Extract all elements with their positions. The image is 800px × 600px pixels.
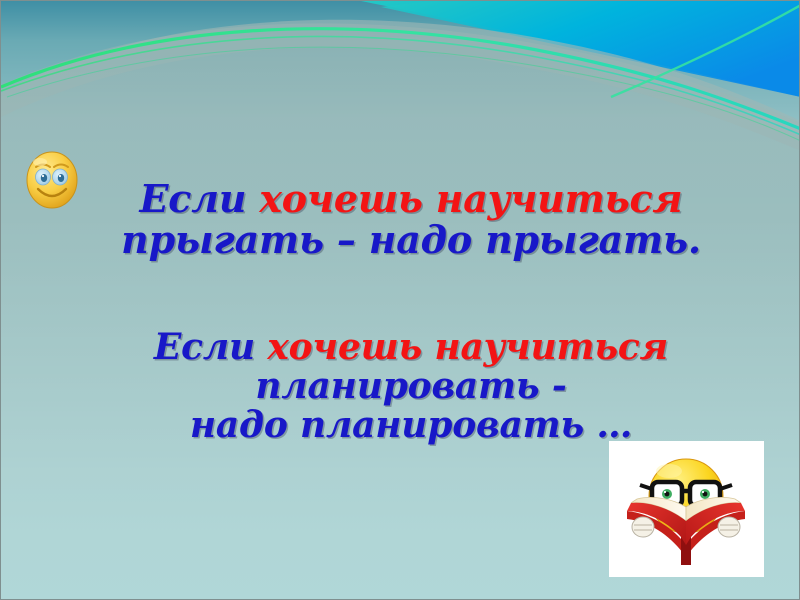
quote-one-blue-end: прыгать – надо прыгать. <box>121 217 701 262</box>
quote-two-blue-start: Если <box>154 326 267 368</box>
quote-text-block-one: Если хочешь научиться прыгать – надо пры… <box>61 137 761 260</box>
hand-right <box>718 517 740 537</box>
hand-left <box>632 517 654 537</box>
smiley-reading-book-icon <box>609 441 764 577</box>
quote-one-blue-start: Если <box>140 176 260 221</box>
reading-smiley-image-card <box>609 441 764 577</box>
slide-canvas: Если хочешь научиться прыгать – надо пры… <box>0 0 800 600</box>
quote-two-blue-end: планировать - надо планировать … <box>190 365 632 446</box>
quote-one-red-phrase: хочешь научиться <box>259 176 682 221</box>
quote-two-red-phrase: хочешь научиться <box>267 326 668 368</box>
quote-text-block-two: Если хочешь научиться планировать - надо… <box>61 289 761 445</box>
